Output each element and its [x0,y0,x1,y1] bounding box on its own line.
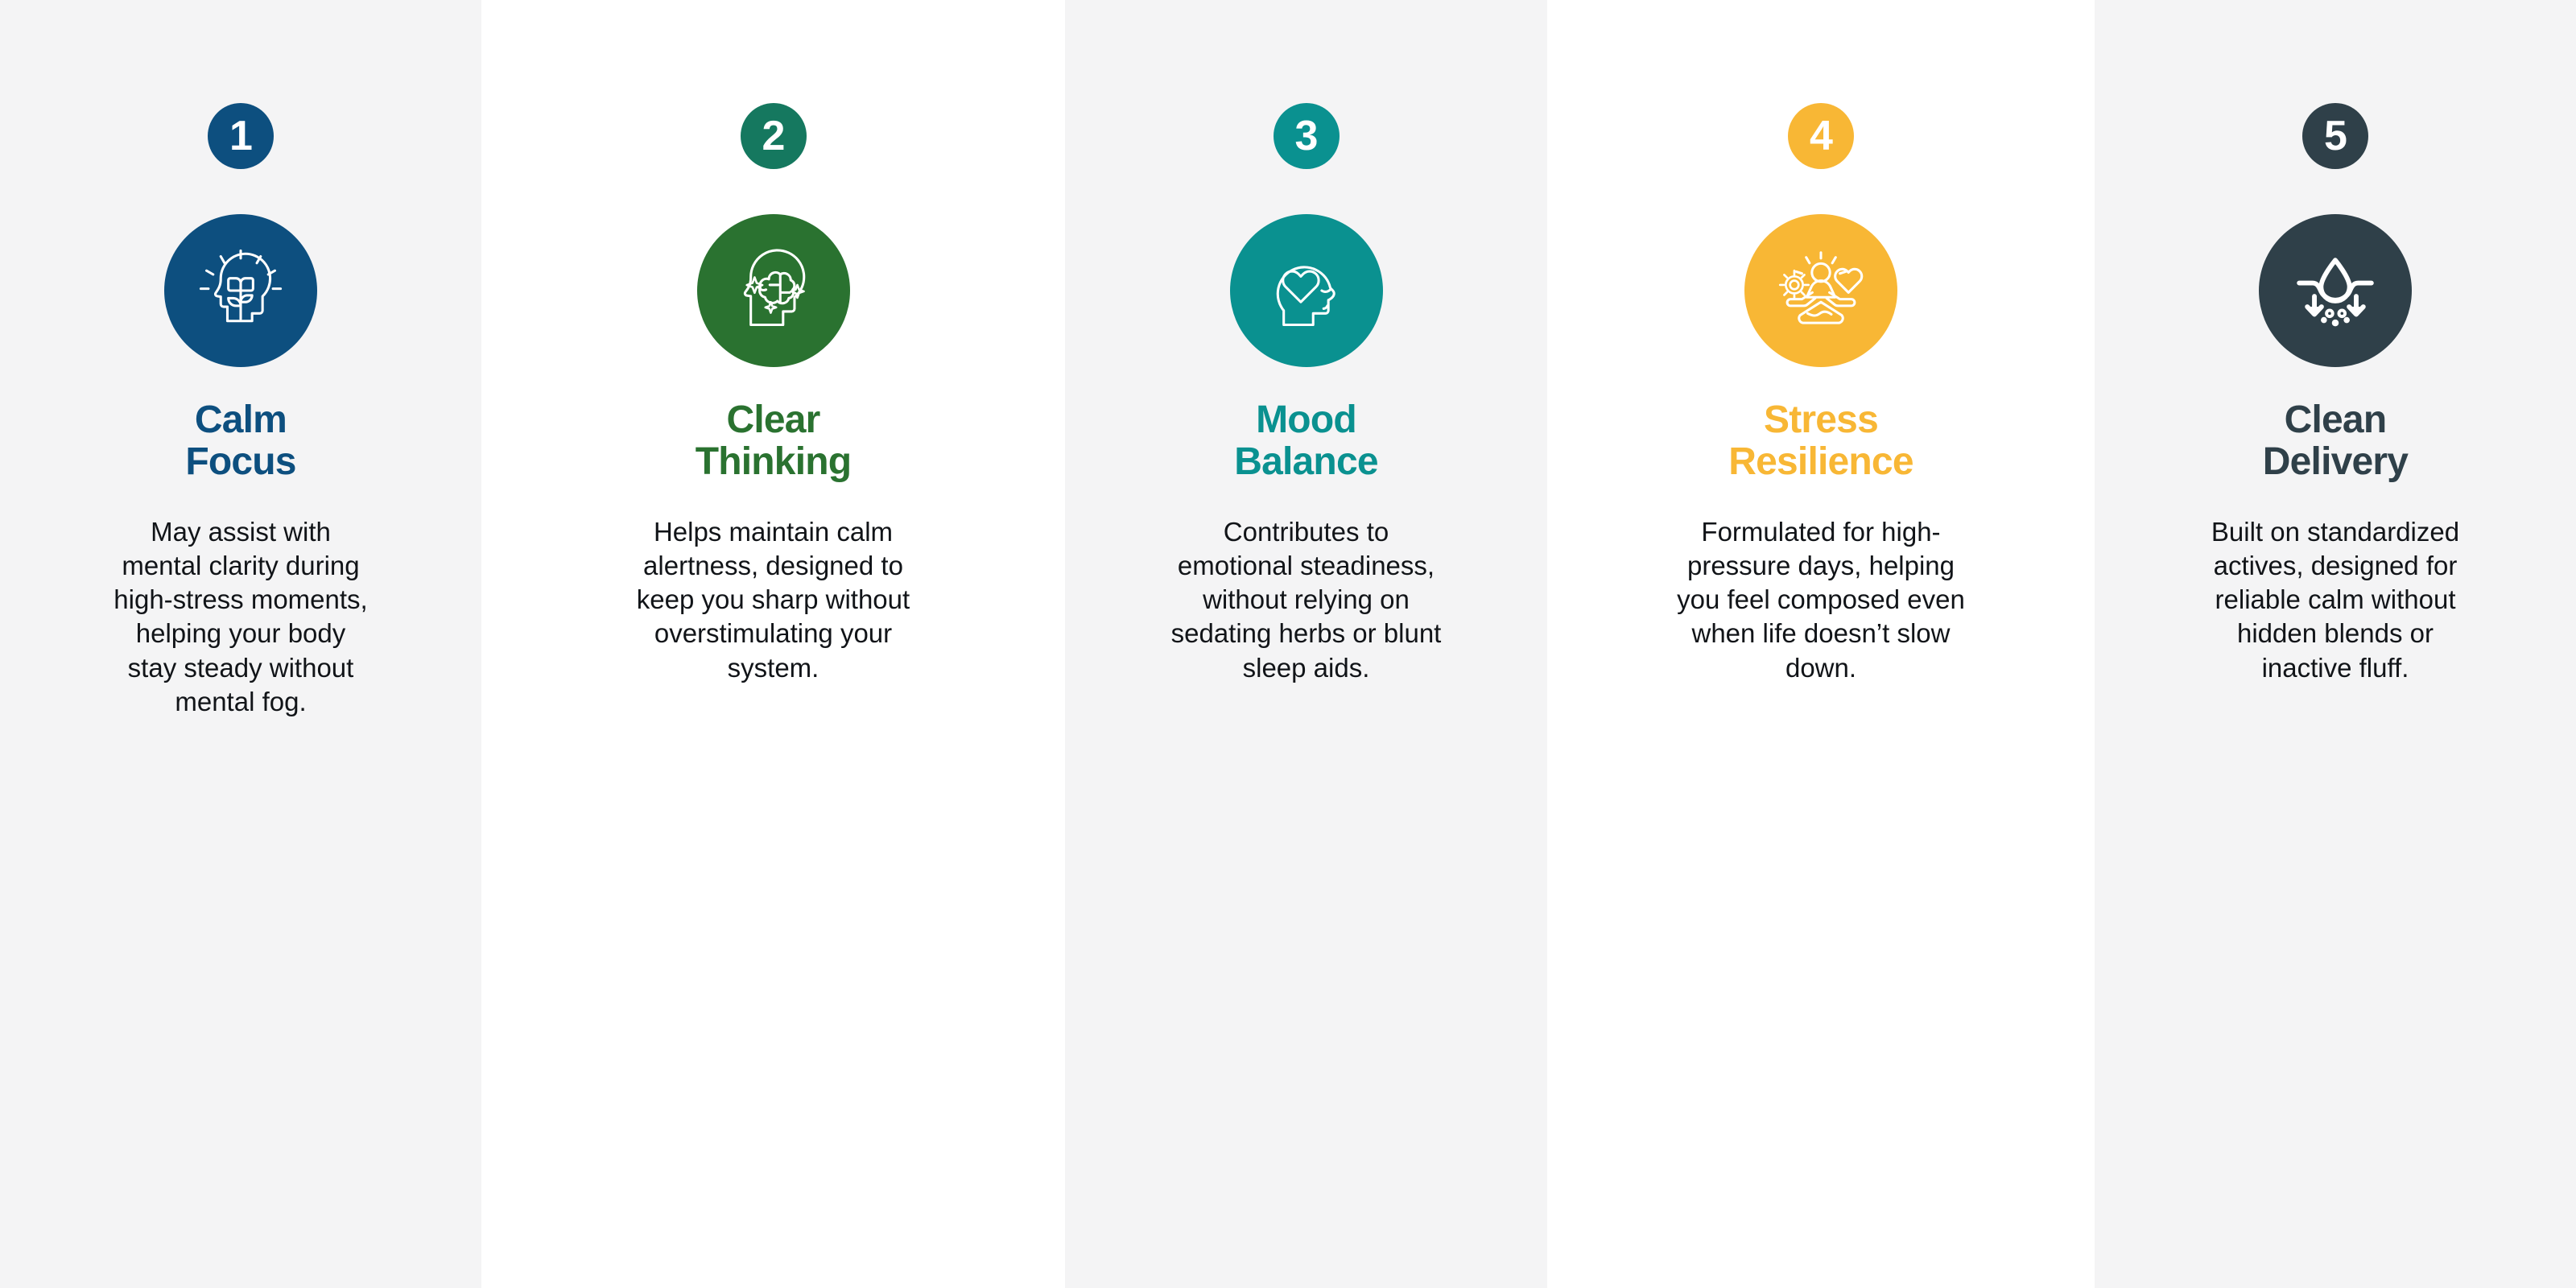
benefit-description: May assist with mental clarity during hi… [108,515,374,719]
benefits-infographic: 1 Calm [0,0,2576,1288]
benefit-column-mood-balance: 3 Mood Balance Contributes to emotional … [1065,0,1547,1288]
benefit-description: Helps maintain calm alertness, designed … [625,515,923,685]
icon-circle-2 [697,214,850,367]
benefit-description: Formulated for high-pressure days, helpi… [1676,515,1966,685]
step-number: 3 [1295,115,1318,157]
benefit-column-clean-delivery: 5 Clean Delivery Built o [2095,0,2576,1288]
benefit-description: Contributes to emotional steadiness, wit… [1166,515,1447,685]
step-number: 2 [762,115,785,157]
step-badge-5: 5 [2302,103,2368,169]
step-number: 1 [229,115,252,157]
benefit-column-clear-thinking: 2 Clear Thinking Helps maintain calm ale… [481,0,1065,1288]
icon-circle-3 [1230,214,1383,367]
benefit-title: Mood Balance [1234,399,1378,483]
benefit-description: Built on standardized actives, designed … [2190,515,2480,685]
icon-circle-4 [1744,214,1897,367]
benefit-title: Calm Focus [185,399,295,483]
benefit-title: Stress Resilience [1728,399,1913,483]
step-number: 5 [2324,115,2347,157]
head-with-sparkling-brain-icon [726,243,821,338]
head-with-heart-icon [1259,243,1354,338]
meditating-person-icon [1773,243,1868,338]
step-number: 4 [1810,115,1832,157]
benefit-title: Clear Thinking [696,399,852,483]
benefit-column-stress-resilience: 4 [1547,0,2095,1288]
step-badge-3: 3 [1274,103,1340,169]
droplet-absorption-icon [2288,243,2383,338]
step-badge-4: 4 [1788,103,1854,169]
icon-circle-5 [2259,214,2412,367]
step-badge-1: 1 [208,103,274,169]
head-with-sprout-icon [193,243,288,338]
icon-circle-1 [164,214,317,367]
benefit-title: Clean Delivery [2263,399,2408,483]
step-badge-2: 2 [741,103,807,169]
benefit-column-calm-focus: 1 Calm [0,0,481,1288]
